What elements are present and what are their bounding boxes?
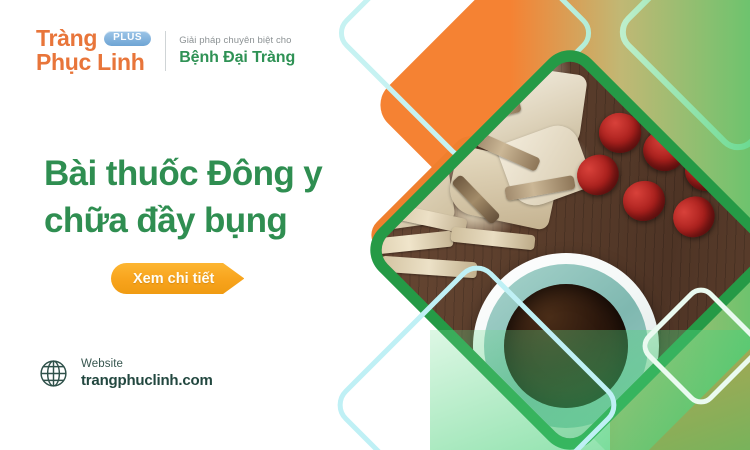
- brand-line-1: Tràng PLUS: [36, 27, 151, 50]
- jujube-date: [666, 190, 721, 244]
- headline-line-2: chữa đầy bụng: [44, 198, 394, 245]
- tagline-big: Bệnh Đại Tràng: [179, 49, 295, 67]
- brand-tagline: Giải pháp chuyên biệt cho Bệnh Đại Tràng: [179, 35, 295, 67]
- brand-word-phuclinh: Phục Linh: [36, 51, 151, 74]
- website-label: Website: [81, 358, 213, 370]
- plus-badge: PLUS: [104, 31, 151, 46]
- vertical-divider: [165, 31, 166, 71]
- view-details-button[interactable]: Xem chi tiết: [111, 263, 244, 294]
- promo-banner: Tràng PLUS Phục Linh Giải pháp chuyên bi…: [0, 0, 750, 450]
- page-title: Bài thuốc Đông y chữa đầy bụng: [44, 151, 394, 244]
- headline-line-1: Bài thuốc Đông y: [44, 154, 322, 193]
- content-panel: Tràng PLUS Phục Linh Giải pháp chuyên bi…: [0, 0, 400, 450]
- jujube-date: [621, 179, 667, 223]
- brand-wordmark: Tràng PLUS Phục Linh: [36, 27, 151, 75]
- website-url[interactable]: trangphuclinh.com: [81, 372, 213, 389]
- globe-icon: [37, 357, 70, 390]
- brand-word-trang: Tràng: [36, 27, 97, 50]
- brand-logo[interactable]: Tràng PLUS Phục Linh Giải pháp chuyên bi…: [36, 27, 295, 75]
- website-info[interactable]: Website trangphuclinh.com: [37, 357, 213, 390]
- website-text-group: Website trangphuclinh.com: [81, 358, 213, 389]
- tagline-small: Giải pháp chuyên biệt cho: [179, 35, 295, 46]
